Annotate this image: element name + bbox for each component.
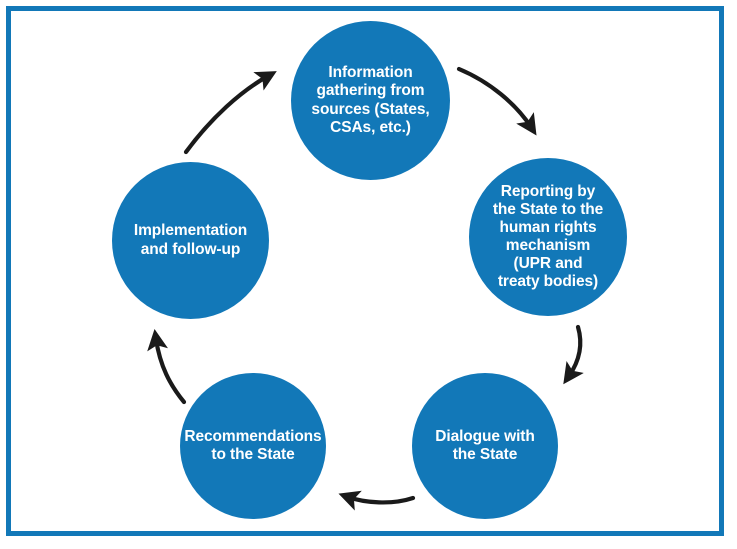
arrow-information-to-reporting <box>459 69 531 127</box>
cycle-node-label: Recommendations to the State <box>180 428 325 464</box>
arrow-reporting-to-dialogue <box>569 327 580 376</box>
arrow-dialogue-to-recommendations <box>348 497 413 502</box>
arrow-implementation-to-information <box>186 76 268 152</box>
cycle-node-label: Implementation and follow-up <box>124 222 257 258</box>
cycle-node-implementation[interactable]: Implementation and follow-up <box>112 162 269 319</box>
cycle-node-label: Dialogue with the State <box>425 428 544 464</box>
cycle-node-reporting[interactable]: Reporting by the State to the human righ… <box>469 158 627 316</box>
cycle-node-label: Reporting by the State to the human righ… <box>487 183 609 292</box>
cycle-node-dialogue[interactable]: Dialogue with the State <box>412 373 558 519</box>
diagram-canvas: Information gathering from sources (Stat… <box>0 0 737 549</box>
cycle-node-label: Information gathering from sources (Stat… <box>301 64 439 137</box>
cycle-node-information-gathering[interactable]: Information gathering from sources (Stat… <box>291 21 450 180</box>
cycle-node-recommendations[interactable]: Recommendations to the State <box>180 373 326 519</box>
arrow-recommendations-to-implementation <box>156 339 184 402</box>
